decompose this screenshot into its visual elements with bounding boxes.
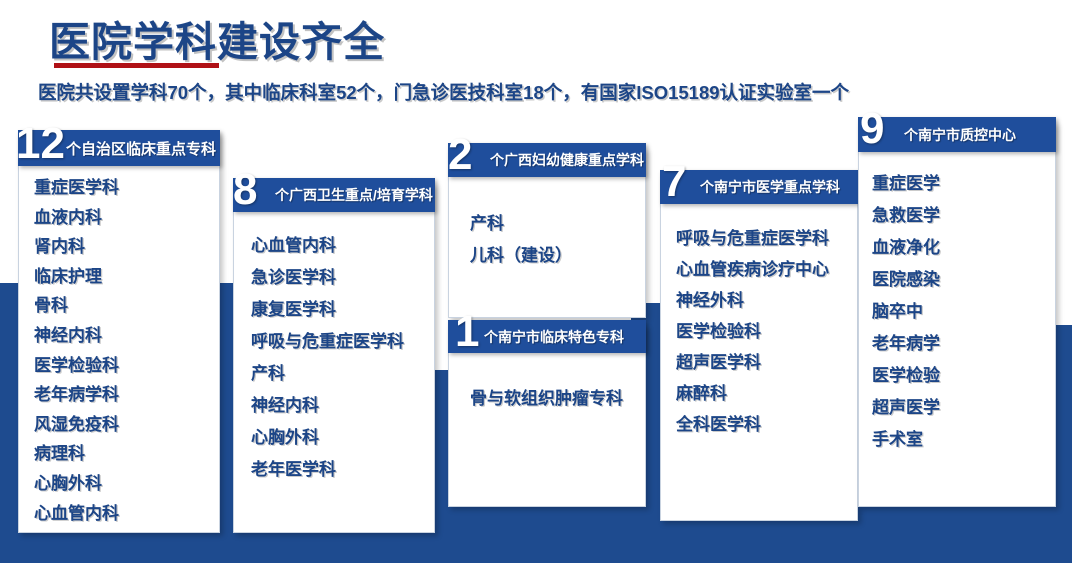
card-header-label: 个南宁市医学重点学科 [700,177,840,197]
page-subtitle: 医院共设置学科70个，其中临床科室52个，门急诊医技科室18个，有国家ISO15… [38,79,849,105]
card-header-col-4: 个南宁市医学重点学科 [660,170,858,204]
card-header-label: 个广西妇幼健康重点学科 [490,150,644,170]
card-header-label: 个广西卫生重点/培育学科 [275,185,433,205]
list-item: 血液净化 [858,232,1072,264]
list-item: 重症医学 [858,168,1072,200]
slide-canvas: 医院学科建设齐全 医院共设置学科70个，其中临床科室52个，门急诊医技科室18个… [0,0,1072,563]
card-header-label: 个南宁市质控中心 [904,125,1016,145]
title-underline-rule [54,63,219,68]
card-header-col-5: 个南宁市质控中心 [858,117,1056,152]
list-item: 手术室 [858,424,1072,456]
card-header-col-3: 个广西妇幼健康重点学科 [448,143,646,177]
card-header-col-2: 个广西卫生重点/培育学科 [233,178,435,212]
list-item: 医院感染 [858,264,1072,296]
card-header-col-3b: 个南宁市临床特色专科 [448,320,646,353]
list-item: 急救医学 [858,200,1072,232]
list-item: 医学检验 [858,360,1072,392]
list-item: 脑卒中 [858,296,1072,328]
list-item: 超声医学 [858,392,1072,424]
page-title: 医院学科建设齐全 [49,8,385,68]
card-header-col-1: 个自治区临床重点专科 [18,130,220,166]
card-header-label: 个自治区临床重点专科 [66,138,216,159]
list-item: 老年病学 [858,328,1072,360]
background-band-base [0,540,1072,563]
card-header-label: 个南宁市临床特色专科 [484,327,624,347]
item-list-col-5: 重症医学 急救医学 血液净化 医院感染 脑卒中 老年病学 医学检验 超声医学 手… [858,168,1072,456]
